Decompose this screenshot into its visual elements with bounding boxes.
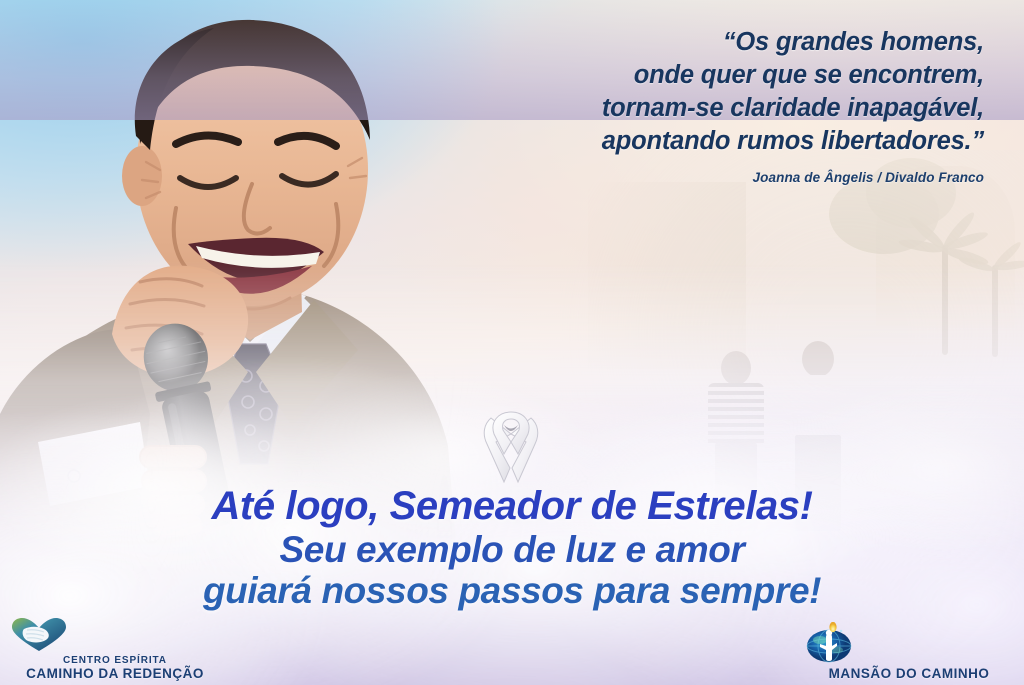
heart-hand-logo-icon bbox=[10, 617, 220, 653]
mansao-do-caminho-line-1: MANSÃO DO CAMINHO bbox=[804, 666, 1014, 681]
quote-line-1: “Os grandes homens, bbox=[364, 26, 984, 59]
mansao-do-caminho-label: MANSÃO DO CAMINHO bbox=[804, 666, 1014, 681]
message-line-3: guiará nossos passos para sempre! bbox=[0, 572, 1024, 610]
quote-line-4: apontando rumos libertadores.” bbox=[364, 125, 984, 158]
white-ribbon-icon bbox=[474, 408, 548, 486]
message-line-1: Até logo, Semeador de Estrelas! bbox=[0, 486, 1024, 528]
quote-text: “Os grandes homens, onde quer que se enc… bbox=[364, 26, 984, 159]
main-message: Até logo, Semeador de Estrelas! Seu exem… bbox=[0, 486, 1024, 611]
mansao-do-caminho-logo: MANSÃO DO CAMINHO bbox=[804, 622, 1014, 681]
quote-attribution: Joanna de Ângelis / Divaldo Franco bbox=[364, 170, 984, 185]
memorial-poster: “Os grandes homens, onde quer que se enc… bbox=[0, 0, 1024, 685]
centro-espirita-line-2: CAMINHO DA REDENÇÃO bbox=[10, 666, 220, 681]
centro-espirita-logo: CENTRO ESPÍRITA CAMINHO DA REDENÇÃO bbox=[10, 617, 220, 681]
quote-line-2: onde quer que se encontrem, bbox=[364, 59, 984, 92]
centro-espirita-line-1: CENTRO ESPÍRITA bbox=[10, 655, 220, 666]
globe-torch-logo-icon bbox=[804, 622, 1014, 664]
centro-espirita-label: CENTRO ESPÍRITA CAMINHO DA REDENÇÃO bbox=[10, 655, 220, 681]
quote-line-3: tornam-se claridade inapagável, bbox=[364, 92, 984, 125]
message-line-2: Seu exemplo de luz e amor bbox=[0, 531, 1024, 569]
